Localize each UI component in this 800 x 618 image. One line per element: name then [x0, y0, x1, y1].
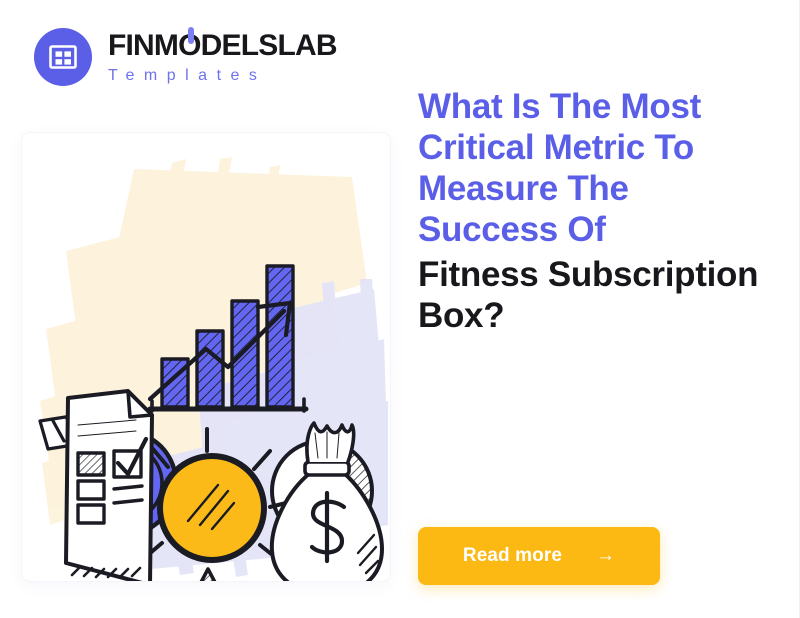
illustration-card	[22, 133, 390, 581]
read-more-label: Read more	[463, 545, 562, 567]
brand-name-text: FINMODELSLAB	[108, 29, 337, 62]
brand-tagline: Templates	[108, 68, 337, 84]
business-metrics-illustration	[22, 133, 390, 581]
grid-squares-icon	[34, 28, 92, 86]
coin-doodle	[160, 456, 264, 560]
logo-accent-bar-icon	[188, 27, 194, 44]
headline: What Is The Most Critical Metric To Meas…	[418, 86, 776, 250]
headline-block: What Is The Most Critical Metric To Meas…	[418, 86, 776, 336]
arrow-right-icon: →	[596, 546, 615, 565]
promo-banner: FINMODELSLAB Templates	[0, 0, 800, 618]
checklist-document-doodle	[66, 391, 152, 581]
read-more-button[interactable]: Read more →	[418, 527, 660, 585]
subject-title: Fitness Subscription Box?	[418, 254, 776, 336]
brand-logo: FINMODELSLAB Templates	[34, 28, 337, 86]
brand-name: FINMODELSLAB	[108, 31, 337, 61]
brand-wordmark: FINMODELSLAB Templates	[108, 31, 337, 84]
